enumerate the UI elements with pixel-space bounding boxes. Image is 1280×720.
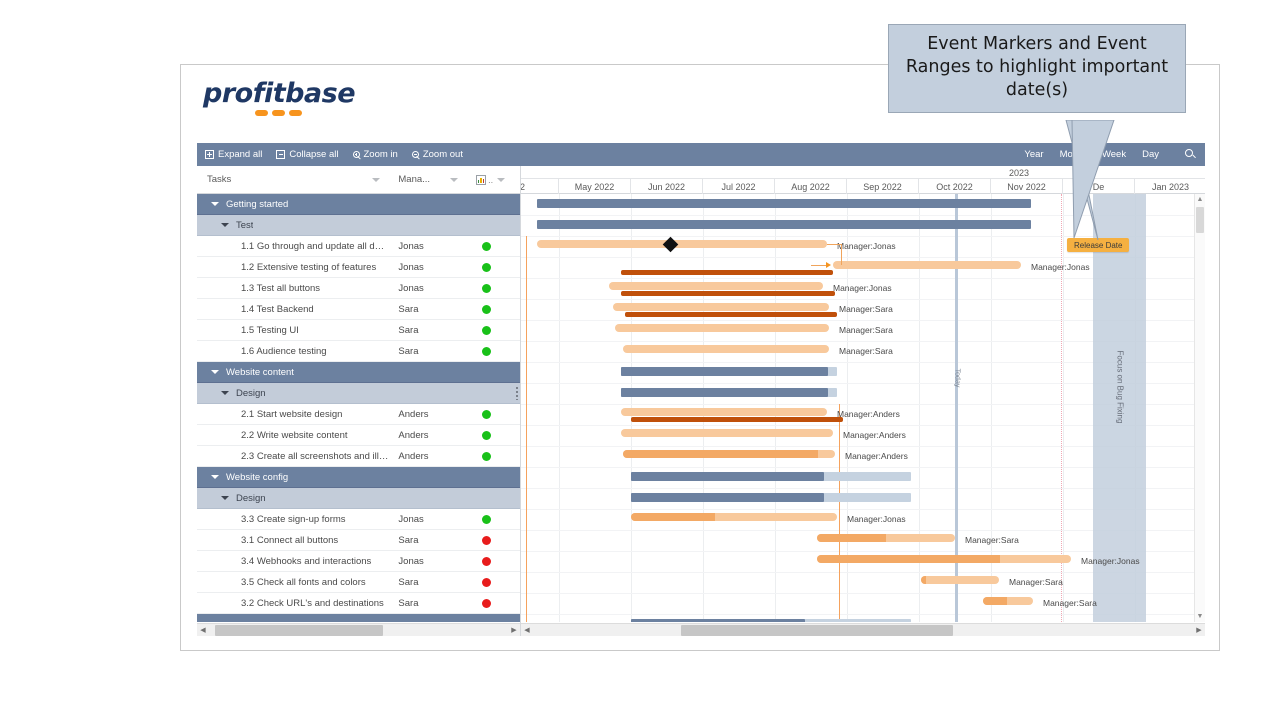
gantt-bar[interactable] [817, 555, 1071, 563]
event-marker-line [839, 404, 840, 622]
collapse-triangle-icon[interactable] [211, 202, 219, 206]
task-name-cell: 3.3 Create sign-up forms [197, 514, 388, 525]
gantt-chart-area[interactable]: Focus on Bug Fixing Today Manager:JonasM… [521, 194, 1205, 622]
task-name-cell: 2.3 Create all screenshots and illust··· [197, 451, 388, 462]
status-badge [482, 431, 491, 440]
search-icon[interactable] [1185, 149, 1197, 161]
gantt-bar[interactable] [537, 199, 1031, 208]
task-name-label: 2.3 Create all screenshots and illust··· [241, 451, 388, 462]
task-name-label: 1.2 Extensive testing of features [241, 262, 376, 273]
collapse-triangle-icon[interactable] [211, 475, 219, 479]
zoom-out-button[interactable]: Zoom out [412, 149, 463, 160]
gantt-bar[interactable] [921, 576, 999, 584]
zoom-in-icon [353, 151, 360, 158]
collapse-triangle-icon[interactable] [221, 496, 229, 500]
gantt-bar-label: Manager:Sara [839, 325, 893, 335]
manager-cell: Jonas [388, 262, 466, 273]
status-cell [466, 578, 520, 587]
table-row[interactable]: Getting started [197, 194, 520, 215]
timeline-month-label[interactable]: Oct 2022 [919, 179, 991, 194]
timeline-month-label[interactable]: Nov 2022 [991, 179, 1063, 194]
gantt-application-window: profitbase Expand all Collapse all Zoom … [180, 64, 1220, 651]
gantt-bar-label: Manager:Jonas [847, 514, 906, 524]
scale-day-button[interactable]: Day [1142, 149, 1159, 160]
status-badge [482, 536, 491, 545]
table-row[interactable]: 1.5 Testing UISara [197, 320, 520, 341]
gantt-bar-progress [623, 450, 818, 458]
dependency-arrow-icon [826, 262, 831, 268]
dependency-link [811, 265, 827, 266]
task-name-cell: 1.6 Audience testing [197, 346, 388, 357]
gantt-horizontal-scrollbar[interactable]: ◀ ▶ [521, 623, 1205, 636]
task-name-label: 3.4 Webhooks and interactions [241, 556, 371, 567]
status-badge [482, 305, 491, 314]
gantt-bar-label: Manager:Anders [843, 430, 906, 440]
gantt-bar-progress [983, 597, 1007, 605]
task-name-label: Getting started [226, 199, 288, 210]
table-row[interactable]: 3.1 Connect all buttonsSara [197, 530, 520, 551]
profitbase-logo: profitbase [203, 80, 355, 126]
table-row[interactable]: 1.4 Test BackendSara [197, 299, 520, 320]
gantt-bar[interactable] [833, 261, 1021, 269]
gantt-bar-label: Manager:Jonas [837, 241, 896, 251]
task-name-cell: Test [197, 220, 388, 231]
table-row[interactable]: 1.3 Test all buttonsJonas [197, 278, 520, 299]
gantt-bar[interactable] [621, 388, 837, 397]
manager-cell: Sara [388, 304, 466, 315]
status-cell [466, 452, 520, 461]
row-grip-icon[interactable] [516, 387, 518, 400]
task-name-label: 1.3 Test all buttons [241, 283, 320, 294]
gantt-bar[interactable] [615, 324, 829, 332]
status-cell [466, 326, 520, 335]
gantt-bar[interactable] [609, 282, 823, 290]
timeline-month-label[interactable]: Jan 2023 [1135, 179, 1205, 194]
gantt-bar[interactable] [817, 534, 955, 542]
scale-week-button[interactable]: Week [1102, 149, 1126, 160]
task-name-label: 2.2 Write website content [241, 430, 348, 441]
collapse-all-label: Collapse all [289, 149, 338, 160]
gantt-bar[interactable] [537, 220, 1031, 229]
timeline-month-label[interactable]: 2 [521, 179, 559, 194]
gantt-bar-label: Manager:Jonas [1081, 556, 1140, 566]
status-badge [482, 578, 491, 587]
table-row[interactable]: Website content [197, 362, 520, 383]
table-row[interactable]: 2.3 Create all screenshots and illust···… [197, 446, 520, 467]
dependency-link [841, 244, 842, 265]
table-row[interactable]: 2.2 Write website contentAnders [197, 425, 520, 446]
task-name-label: Website content [226, 367, 294, 378]
timeline-month-label[interactable]: May 2022 [559, 179, 631, 194]
task-name-cell: 1.4 Test Backend [197, 304, 388, 315]
task-name-label: Design [236, 493, 266, 504]
status-badge [482, 599, 491, 608]
table-row[interactable]: Design [197, 488, 520, 509]
timeline-month-label[interactable]: Jul 2022 [703, 179, 775, 194]
event-range-label: Focus on Bug Fixing [1115, 350, 1124, 423]
table-row[interactable]: Test [197, 215, 520, 236]
collapse-triangle-icon[interactable] [211, 370, 219, 374]
status-cell [466, 515, 520, 524]
task-name-cell: 3.1 Connect all buttons [197, 535, 388, 546]
status-cell [466, 431, 520, 440]
table-row[interactable]: 1.2 Extensive testing of featuresJonas [197, 257, 520, 278]
grid-scroll-track[interactable] [209, 624, 508, 637]
table-row[interactable] [197, 614, 520, 622]
gantt-bar[interactable] [631, 472, 911, 481]
manager-cell: Sara [388, 577, 466, 588]
table-row[interactable]: Website config [197, 467, 520, 488]
column-header-tasks-label: Tasks [207, 174, 372, 185]
table-row[interactable]: Design [197, 383, 520, 404]
task-name-label: 3.3 Create sign-up forms [241, 514, 346, 525]
gantt-bar-label: Manager:Sara [839, 304, 893, 314]
task-name-label: 3.1 Connect all buttons [241, 535, 338, 546]
gantt-bar[interactable] [631, 417, 843, 422]
gantt-bar[interactable] [621, 367, 837, 376]
column-header-status-label: .. [488, 175, 493, 185]
manager-cell: Sara [388, 598, 466, 609]
gantt-bar-label: Manager:Jonas [1031, 262, 1090, 272]
collapse-triangle-icon[interactable] [221, 223, 229, 227]
gantt-bar[interactable] [623, 450, 835, 458]
task-name-label: Design [236, 388, 266, 399]
gantt-bar[interactable] [613, 303, 829, 311]
task-name-label: 3.5 Check all fonts and colors [241, 577, 366, 588]
task-grid-header: Tasks Mana... .. [197, 166, 520, 194]
status-badge [482, 557, 491, 566]
status-badge [482, 326, 491, 335]
task-name-cell: 1.2 Extensive testing of features [197, 262, 388, 273]
column-header-manager[interactable]: Mana... [388, 166, 466, 193]
timeline-month-label[interactable]: Sep 2022 [847, 179, 919, 194]
timeline-year-label: 2023 [989, 166, 1049, 179]
manager-cell: Sara [388, 346, 466, 357]
gantt-scroll-track[interactable] [533, 624, 1193, 637]
manager-cell: Anders [388, 451, 466, 462]
task-name-cell: Design [197, 493, 388, 504]
timeline-month-label[interactable]: Jun 2022 [631, 179, 703, 194]
gantt-bar-progress [621, 367, 828, 376]
gantt-chart-pane: 2023 2May 2022Jun 2022Jul 2022Aug 2022Se… [521, 166, 1205, 636]
gantt-bar-progress [631, 619, 805, 622]
collapse-all-button[interactable]: Collapse all [276, 149, 338, 160]
scroll-right-icon[interactable]: ▶ [1193, 624, 1205, 637]
gantt-bar[interactable] [623, 345, 829, 353]
event-marker[interactable]: Release Date [1067, 238, 1129, 252]
chevron-down-icon[interactable] [450, 178, 458, 182]
table-row[interactable]: 1.1 Go through and update all doc···Jona… [197, 236, 520, 257]
column-header-manager-label: Mana... [398, 174, 450, 185]
status-cell [466, 284, 520, 293]
zoom-out-label: Zoom out [423, 149, 463, 160]
task-name-cell: Design [197, 388, 388, 399]
status-badge [482, 515, 491, 524]
gantt-bar-progress [817, 534, 886, 542]
manager-cell: Jonas [388, 283, 466, 294]
gantt-bar-progress [631, 513, 715, 521]
zoom-in-label: Zoom in [364, 149, 398, 160]
gantt-bar-label: Manager:Sara [965, 535, 1019, 545]
column-header-status[interactable]: .. [466, 166, 520, 193]
gantt-bar-progress [631, 472, 824, 481]
gantt-bar[interactable] [621, 408, 827, 416]
table-row[interactable]: 3.5 Check all fonts and colorsSara [197, 572, 520, 593]
task-name-label: 3.2 Check URL's and destinations [241, 598, 384, 609]
timeline-month-label[interactable]: De [1063, 179, 1135, 194]
gantt-toolbar: Expand all Collapse all Zoom in Zoom out… [197, 143, 1205, 166]
chevron-down-icon[interactable] [497, 178, 505, 182]
gantt-bar-progress [621, 388, 828, 397]
timeline-month-header: 2May 2022Jun 2022Jul 2022Aug 2022Sep 202… [521, 179, 1205, 194]
gantt-bar[interactable] [631, 493, 911, 502]
task-name-label: 1.6 Audience testing [241, 346, 327, 357]
task-name-cell: 3.2 Check URL's and destinations [197, 598, 388, 609]
manager-cell: Sara [388, 535, 466, 546]
zoom-in-button[interactable]: Zoom in [353, 149, 398, 160]
status-cell [466, 305, 520, 314]
logo-dots [255, 110, 355, 116]
status-cell [466, 410, 520, 419]
status-cell [466, 347, 520, 356]
scroll-left-icon[interactable]: ◀ [197, 624, 209, 637]
status-cell [466, 557, 520, 566]
table-row[interactable]: 3.4 Webhooks and interactionsJonas [197, 551, 520, 572]
timeline-year-header: 2023 [521, 166, 1205, 179]
event-marker-line [526, 236, 527, 622]
gantt-bar-progress [921, 576, 926, 584]
table-row[interactable]: 1.6 Audience testingSara [197, 341, 520, 362]
gantt-scroll-thumb[interactable] [681, 625, 953, 636]
manager-cell: Jonas [388, 241, 466, 252]
status-badge [482, 242, 491, 251]
annotation-callout-text: Event Markers and Event Ranges to highli… [899, 33, 1175, 102]
grid-horizontal-scrollbar[interactable]: ◀ ▶ [197, 623, 520, 636]
gantt-main-area: Tasks Mana... .. Getting startedTest1.1 … [197, 166, 1205, 636]
gantt-bar[interactable] [631, 619, 911, 622]
task-name-cell: 1.5 Testing UI [197, 325, 388, 336]
status-cell [466, 263, 520, 272]
task-name-label: 1.5 Testing UI [241, 325, 299, 336]
table-row[interactable]: 3.2 Check URL's and destinationsSara [197, 593, 520, 614]
status-badge [482, 347, 491, 356]
grid-scroll-thumb[interactable] [215, 625, 383, 636]
gantt-bar[interactable] [631, 513, 837, 521]
scale-year-button[interactable]: Year [1024, 149, 1043, 160]
task-name-label: 2.1 Start website design [241, 409, 342, 420]
gantt-vscroll-thumb[interactable] [1196, 207, 1204, 233]
scroll-down-icon[interactable]: ▼ [1195, 611, 1205, 622]
task-name-cell: Website config [197, 472, 388, 483]
gantt-bar[interactable] [625, 312, 837, 317]
task-name-cell: Getting started [197, 199, 388, 210]
dependency-link [827, 244, 841, 245]
manager-cell: Jonas [388, 514, 466, 525]
task-name-label: 1.4 Test Backend [241, 304, 314, 315]
task-name-cell: Website content [197, 367, 388, 378]
gantt-bar[interactable] [983, 597, 1033, 605]
task-name-cell: 3.4 Webhooks and interactions [197, 556, 388, 567]
status-chart-icon [476, 175, 486, 185]
manager-cell: Anders [388, 430, 466, 441]
gantt-vertical-scrollbar[interactable]: ▲ ▼ [1194, 194, 1205, 622]
task-name-label: Test [236, 220, 253, 231]
expand-all-label: Expand all [218, 149, 262, 160]
collapse-triangle-icon[interactable] [221, 391, 229, 395]
collapse-all-icon [276, 150, 285, 159]
status-badge [482, 452, 491, 461]
task-name-cell: 2.1 Start website design [197, 409, 388, 420]
column-header-tasks[interactable]: Tasks [197, 166, 388, 193]
gantt-bar-label: Manager:Anders [837, 409, 900, 419]
gantt-bar-progress [817, 555, 1000, 563]
gantt-bar[interactable] [537, 240, 827, 248]
scroll-right-icon[interactable]: ▶ [508, 624, 520, 637]
status-cell [466, 599, 520, 608]
chevron-down-icon[interactable] [372, 178, 380, 182]
scroll-up-icon[interactable]: ▲ [1195, 194, 1205, 205]
slide-canvas: profitbase Expand all Collapse all Zoom … [0, 0, 1280, 720]
gantt-bar-label: Manager:Sara [1043, 598, 1097, 608]
gantt-bar-label: Manager:Jonas [833, 283, 892, 293]
task-name-label: Website config [226, 472, 288, 483]
task-grid-rows[interactable]: Getting startedTest1.1 Go through and up… [197, 194, 520, 622]
gantt-bar-label: Manager:Anders [845, 451, 908, 461]
task-name-cell: 3.5 Check all fonts and colors [197, 577, 388, 588]
gantt-bar-progress [631, 493, 824, 502]
annotation-callout: Event Markers and Event Ranges to highli… [888, 24, 1186, 113]
status-badge [482, 284, 491, 293]
task-name-label: 1.1 Go through and update all doc··· [241, 241, 388, 252]
gantt-bar[interactable] [621, 429, 833, 437]
gantt-bar[interactable] [621, 270, 833, 275]
task-name-cell: 2.2 Write website content [197, 430, 388, 441]
task-grid-pane: Tasks Mana... .. Getting startedTest1.1 … [197, 166, 521, 636]
manager-cell: Anders [388, 409, 466, 420]
scale-month-button[interactable]: Month [1060, 149, 1086, 160]
table-row[interactable]: 2.1 Start website designAnders [197, 404, 520, 425]
today-line-label: Today [953, 369, 960, 388]
status-badge [482, 263, 491, 272]
manager-cell: Sara [388, 325, 466, 336]
scroll-left-icon[interactable]: ◀ [521, 624, 533, 637]
status-cell [466, 536, 520, 545]
expand-all-button[interactable]: Expand all [205, 149, 262, 160]
manager-cell: Jonas [388, 556, 466, 567]
status-cell [466, 242, 520, 251]
task-name-cell: 1.1 Go through and update all doc··· [197, 241, 388, 252]
gantt-bar[interactable] [621, 291, 835, 296]
logo-wordmark: profitbase [203, 80, 355, 107]
gantt-bar-label: Manager:Sara [1009, 577, 1063, 587]
gantt-bar-label: Manager:Sara [839, 346, 893, 356]
status-badge [482, 410, 491, 419]
timeline-month-label[interactable]: Aug 2022 [775, 179, 847, 194]
table-row[interactable]: 3.3 Create sign-up formsJonas [197, 509, 520, 530]
expand-all-icon [205, 150, 214, 159]
task-name-cell: 1.3 Test all buttons [197, 283, 388, 294]
zoom-out-icon [412, 151, 419, 158]
